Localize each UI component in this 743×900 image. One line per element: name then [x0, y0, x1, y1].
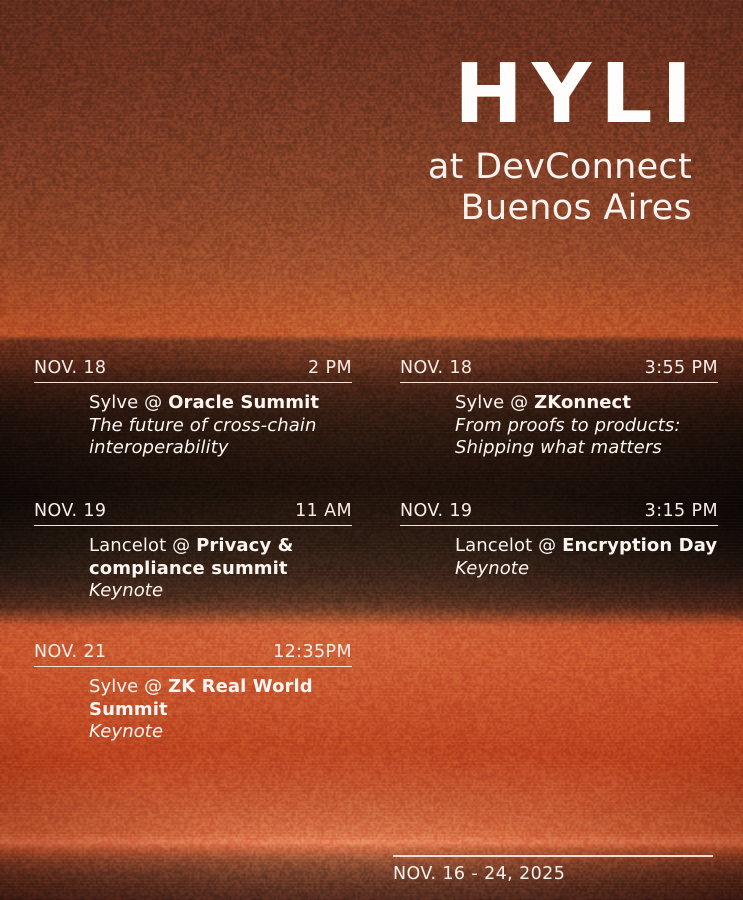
- event-title: Lancelot @ Privacy & compliance summit: [89, 535, 352, 580]
- event-time: 11 AM: [295, 501, 352, 521]
- footer-divider: [393, 855, 713, 857]
- event-card-body: Lancelot @ Privacy & compliance summitKe…: [34, 535, 352, 603]
- event-card[interactable]: NOV. 193:15 PMLancelot @ Encryption DayK…: [400, 501, 718, 603]
- event-description: The future of cross-chain interoperabili…: [89, 415, 352, 460]
- event-title: Sylve @ ZK Real World Summit: [89, 676, 352, 721]
- footer-date-range: NOV. 16 - 24, 2025: [393, 864, 713, 884]
- event-schedule-grid: NOV. 182 PMSylve @ Oracle SummitThe futu…: [34, 358, 718, 744]
- event-date: NOV. 18: [34, 358, 106, 378]
- event-card-header: NOV. 183:55 PM: [400, 358, 718, 383]
- event-speaker: Lancelot @: [89, 535, 196, 556]
- event-date: NOV. 18: [400, 358, 472, 378]
- event-card[interactable]: NOV. 2112:35PMSylve @ ZK Real World Summ…: [34, 642, 352, 744]
- event-title: Lancelot @ Encryption Day: [455, 535, 718, 558]
- event-description: Keynote: [89, 580, 352, 603]
- event-card-body: Sylve @ ZK Real World SummitKeynote: [34, 676, 352, 744]
- poster-header: HYLI at DevConnect Buenos Aires: [428, 56, 692, 229]
- event-venue: Encryption Day: [562, 535, 717, 556]
- event-speaker: Sylve @: [89, 676, 168, 697]
- event-card-header: NOV. 182 PM: [34, 358, 352, 383]
- event-title: Sylve @ Oracle Summit: [89, 392, 352, 415]
- event-poster: HYLI at DevConnect Buenos Aires NOV. 182…: [0, 0, 743, 900]
- event-time: 2 PM: [308, 358, 352, 378]
- poster-footer: NOV. 16 - 24, 2025: [393, 855, 713, 884]
- event-time: 12:35PM: [273, 642, 352, 662]
- event-card-header: NOV. 193:15 PM: [400, 501, 718, 526]
- event-time: 3:55 PM: [645, 358, 718, 378]
- event-description: From proofs to products: Shipping what m…: [455, 415, 718, 460]
- event-date: NOV. 21: [34, 642, 106, 662]
- event-card[interactable]: NOV. 182 PMSylve @ Oracle SummitThe futu…: [34, 358, 352, 460]
- event-card-header: NOV. 1911 AM: [34, 501, 352, 526]
- subtitle-line-2: Buenos Aires: [428, 188, 692, 229]
- event-card[interactable]: NOV. 1911 AMLancelot @ Privacy & complia…: [34, 501, 352, 603]
- event-card[interactable]: NOV. 183:55 PMSylve @ ZKonnectFrom proof…: [400, 358, 718, 460]
- event-description: Keynote: [89, 721, 352, 744]
- event-description: Keynote: [455, 558, 718, 581]
- event-title: Sylve @ ZKonnect: [455, 392, 718, 415]
- event-date: NOV. 19: [34, 501, 106, 521]
- event-card-body: Sylve @ ZKonnectFrom proofs to products:…: [400, 392, 718, 460]
- event-speaker: Sylve @: [455, 392, 534, 413]
- poster-subtitle: at DevConnect Buenos Aires: [428, 147, 692, 229]
- event-time: 3:15 PM: [645, 501, 718, 521]
- event-card-body: Lancelot @ Encryption DayKeynote: [400, 535, 718, 580]
- event-card-header: NOV. 2112:35PM: [34, 642, 352, 667]
- event-speaker: Lancelot @: [455, 535, 562, 556]
- subtitle-line-1: at DevConnect: [428, 147, 692, 188]
- event-venue: ZKonnect: [534, 392, 631, 413]
- event-card-body: Sylve @ Oracle SummitThe future of cross…: [34, 392, 352, 460]
- event-date: NOV. 19: [400, 501, 472, 521]
- event-venue: Oracle Summit: [168, 392, 319, 413]
- brand-wordmark: HYLI: [428, 56, 701, 135]
- event-speaker: Sylve @: [89, 392, 168, 413]
